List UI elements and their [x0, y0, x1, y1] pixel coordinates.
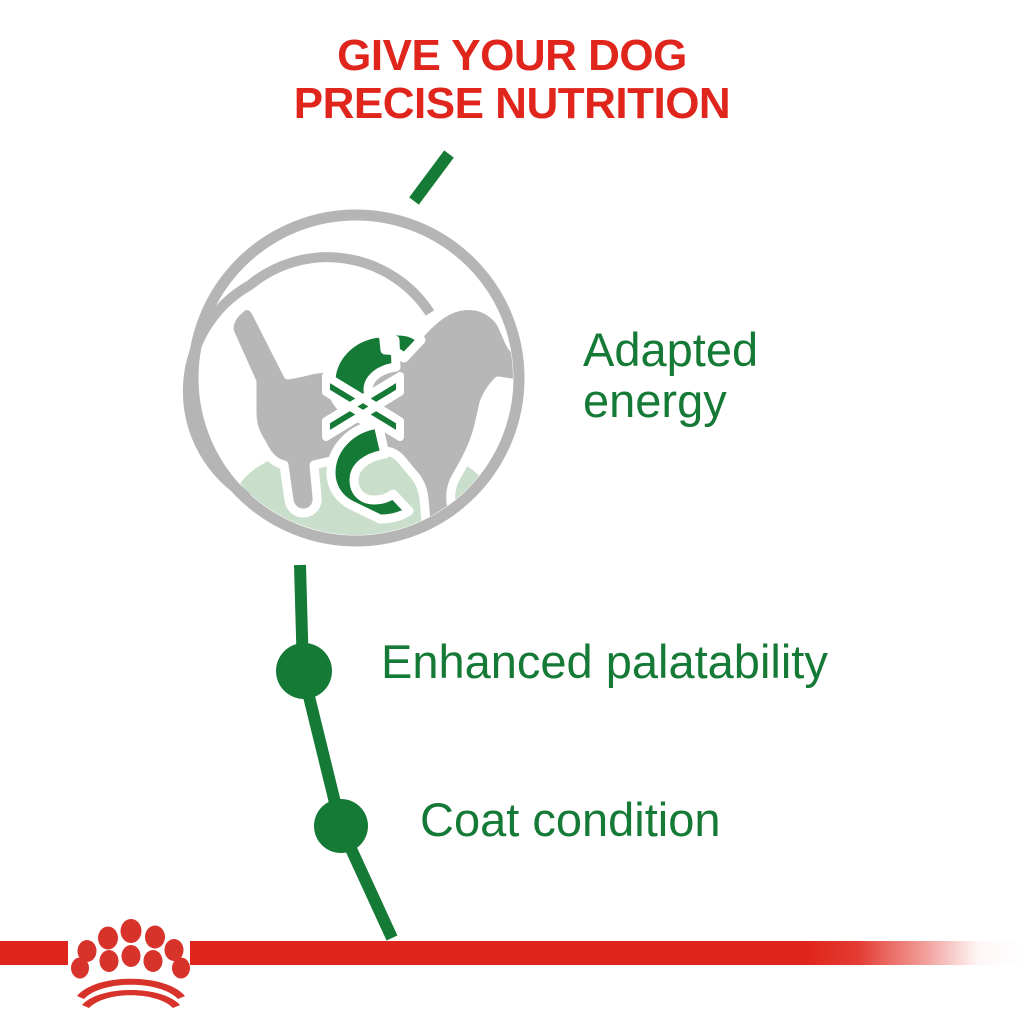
page-title: GIVE YOUR DOG PRECISE NUTRITION [0, 32, 1024, 128]
benefit-label-adapted-energy: Adapted energy [583, 325, 758, 427]
benefit-label-coat-condition: Coat condition [420, 795, 720, 846]
headline-line-2: PRECISE NUTRITION [0, 80, 1024, 128]
footer-band-left [0, 941, 68, 965]
connector-dot-palatability[interactable] [276, 643, 332, 699]
poster-canvas: GIVE YOUR DOG PRECISE NUTRITION [0, 0, 1024, 1024]
connector-dot-coat[interactable] [314, 799, 368, 853]
footer-layer [0, 0, 1024, 1024]
benefit-label-enhanced-palatability: Enhanced palatability [381, 637, 828, 688]
footer-band-right [190, 941, 1024, 965]
headline-line-1: GIVE YOUR DOG [0, 32, 1024, 80]
tick-mark-icon [414, 154, 449, 201]
royal-canin-crown-logo[interactable] [71, 919, 190, 1008]
graphic-layer [0, 0, 1024, 1024]
connector-path [300, 565, 392, 938]
dog-in-circle-energy-icon[interactable] [188, 215, 529, 558]
